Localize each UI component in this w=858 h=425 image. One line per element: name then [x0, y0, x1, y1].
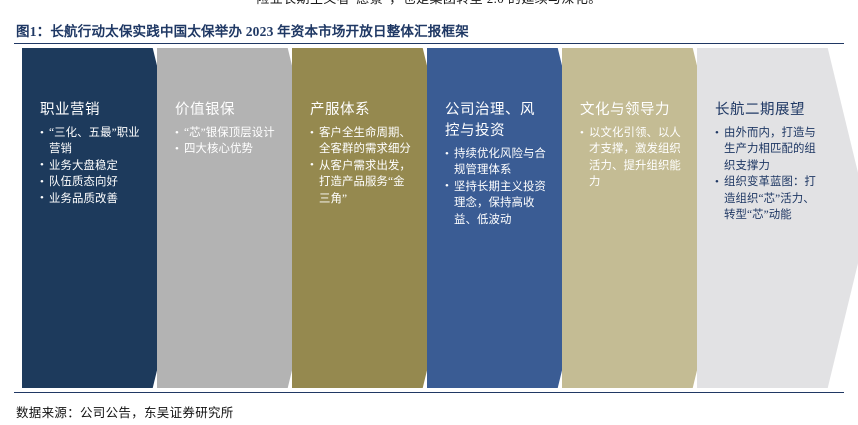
list-item: 持续优化风险与合规管理体系 [445, 146, 549, 179]
figure-title: 图1：长航行动太保实践中国太保举办 2023 年资本市场开放日整体汇报框架 [16, 20, 469, 40]
chevron-stage-6: 长航二期展望 由外而内，打造与生产力相匹配的组织支撑力 组织变革蓝图：打造组织“… [697, 48, 858, 388]
list-item: 从客户需求出发，打造产品服务“金三角” [310, 158, 414, 207]
source-divider-bottom [14, 392, 844, 393]
chevron-stage-6-title: 长航二期展望 [715, 100, 819, 121]
list-item: 客户全生命周期、全客群的需求细分 [310, 125, 414, 158]
list-item: 以文化引领、以人才支撑，激发组织活力、提升组织能力 [580, 125, 684, 191]
chevron-stage-6-bullets: 由外而内，打造与生产力相匹配的组织支撑力 组织变革蓝图：打造组织“芯”活力、转型… [715, 125, 819, 223]
list-item: 四大核心优势 [175, 141, 279, 157]
list-item: 由外而内，打造与生产力相匹配的组织支撑力 [715, 125, 819, 174]
chevron-stage-5-title: 文化与领导力 [580, 100, 684, 121]
chevron-stage-4-bullets: 持续优化风险与合规管理体系 坚持长期主义投资理念，保持高收益、低波动 [445, 146, 549, 228]
title-divider-top [14, 43, 844, 44]
chevron-stage-3-title: 产服体系 [310, 100, 414, 121]
chevron-stage-2-title: 价值银保 [175, 100, 279, 121]
list-item: 业务品质改善 [40, 191, 144, 207]
list-item: 组织变革蓝图：打造组织“芯”活力、转型“芯”动能 [715, 174, 819, 223]
chevron-process-diagram: 职业营销 “三化、五最”职业营销 业务大盘稳定 队伍质态向好 业务品质改善 价值… [0, 48, 858, 388]
truncated-body-text: 险业长期主义者“愿景”，也是集团转型 2.0 的延续与深化。 [0, 0, 858, 7]
list-item: 队伍质态向好 [40, 174, 144, 190]
list-item: 坚持长期主义投资理念，保持高收益、低波动 [445, 179, 549, 228]
list-item: “三化、五最”职业营销 [40, 125, 144, 158]
chevron-stage-3-bullets: 客户全生命周期、全客群的需求细分 从客户需求出发，打造产品服务“金三角” [310, 125, 414, 207]
chevron-stage-5-bullets: 以文化引领、以人才支撑，激发组织活力、提升组织能力 [580, 125, 684, 191]
chevron-stage-2-bullets: “芯”银保顶层设计 四大核心优势 [175, 125, 279, 158]
source-note: 数据来源：公司公告，东吴证券研究所 [16, 402, 234, 421]
chevron-stage-1-bullets: “三化、五最”职业营销 业务大盘稳定 队伍质态向好 业务品质改善 [40, 125, 144, 207]
list-item: 业务大盘稳定 [40, 158, 144, 174]
chevron-stage-1-title: 职业营销 [40, 100, 144, 121]
list-item: “芯”银保顶层设计 [175, 125, 279, 141]
chevron-stage-4-title: 公司治理、风控与投资 [445, 100, 549, 142]
